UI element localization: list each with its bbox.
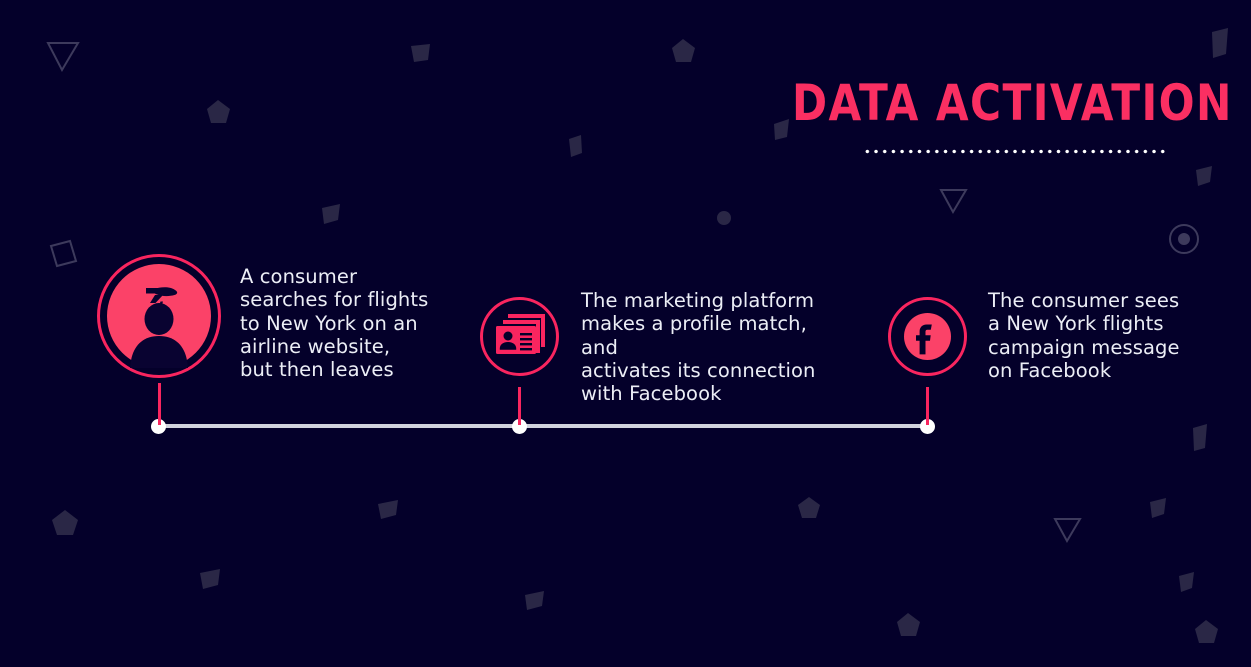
decor-rhombus (525, 591, 544, 610)
step-1-text: A consumer searches for flights to New Y… (240, 265, 440, 381)
timeline-track (158, 424, 927, 428)
profile-cards-icon (488, 305, 551, 368)
decor-target-ring (1170, 225, 1198, 253)
decor-rhombus (322, 204, 340, 224)
decor-rhombus (1196, 166, 1212, 186)
decor-pentagon (672, 39, 695, 62)
decor-pentagon (798, 497, 820, 518)
decor-triangle-outline (48, 43, 78, 70)
traveler-airplane-icon (107, 264, 211, 368)
page-title: DATA ACTIVATION (792, 78, 1168, 128)
decor-rhombus (569, 135, 582, 157)
timeline-stem-3 (926, 387, 929, 425)
step-2-icon-node[interactable] (480, 297, 559, 376)
decor-rhombus (200, 569, 220, 589)
step-2-text: The marketing platform makes a profile m… (581, 289, 846, 405)
title-dotted-underline (863, 149, 1168, 154)
decor-triangle-outline (941, 190, 966, 212)
step-1-icon-node[interactable] (97, 254, 221, 378)
timeline-stem-2 (518, 387, 521, 425)
decor-rhombus (378, 500, 398, 519)
decor-pentagon (1195, 620, 1218, 643)
decor-pentagon (897, 613, 920, 636)
decor-rhombus (1150, 498, 1166, 518)
timeline-stem-1 (158, 383, 161, 425)
decor-rhombus (1193, 424, 1207, 451)
slide-canvas: DATA ACTIVATION A consumer searches f (0, 0, 1251, 667)
decor-rhombus (1179, 572, 1194, 592)
decor-circle (717, 211, 731, 225)
decor-target-dot (1178, 233, 1190, 245)
decor-triangle-outline (1055, 519, 1080, 541)
facebook-icon (904, 313, 951, 360)
decor-rhombus (411, 44, 430, 62)
step-3-icon-node[interactable] (888, 297, 967, 376)
decor-square-outline (51, 241, 76, 266)
decor-pentagon (207, 100, 230, 123)
title-block: DATA ACTIVATION (768, 78, 1168, 154)
decor-pentagon (52, 510, 78, 535)
step-3-text: The consumer sees a New York flights cam… (988, 289, 1188, 382)
decor-rhombus (1212, 28, 1228, 58)
